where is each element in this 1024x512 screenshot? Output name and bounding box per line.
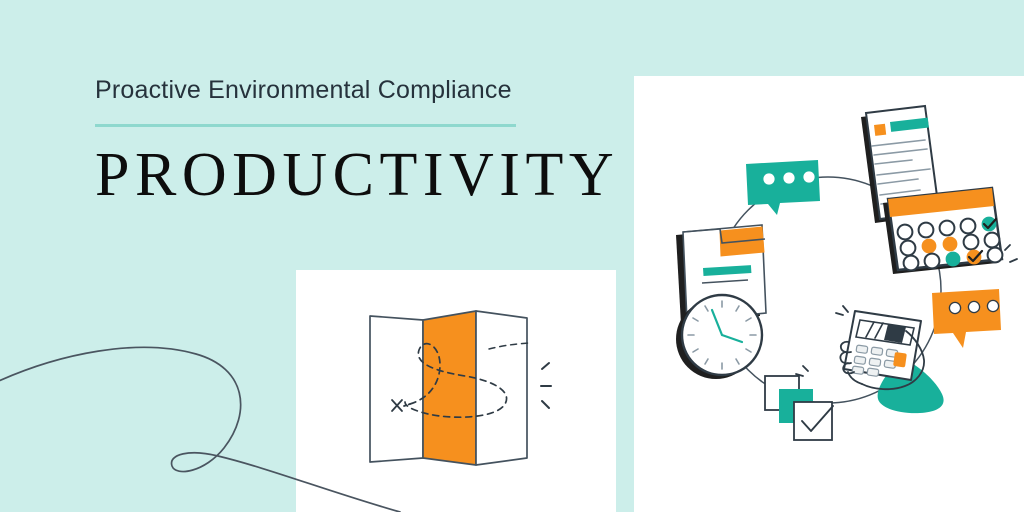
right-image-panel <box>634 76 1024 512</box>
title-divider <box>95 124 516 127</box>
subtitle-text: Proactive Environmental Compliance <box>95 76 635 105</box>
heading-block: Proactive Environmental Compliance PRODU… <box>95 76 635 208</box>
poster-canvas: Proactive Environmental Compliance PRODU… <box>0 0 1024 512</box>
page-title: PRODUCTIVITY <box>95 143 635 208</box>
left-image-panel <box>296 270 616 512</box>
